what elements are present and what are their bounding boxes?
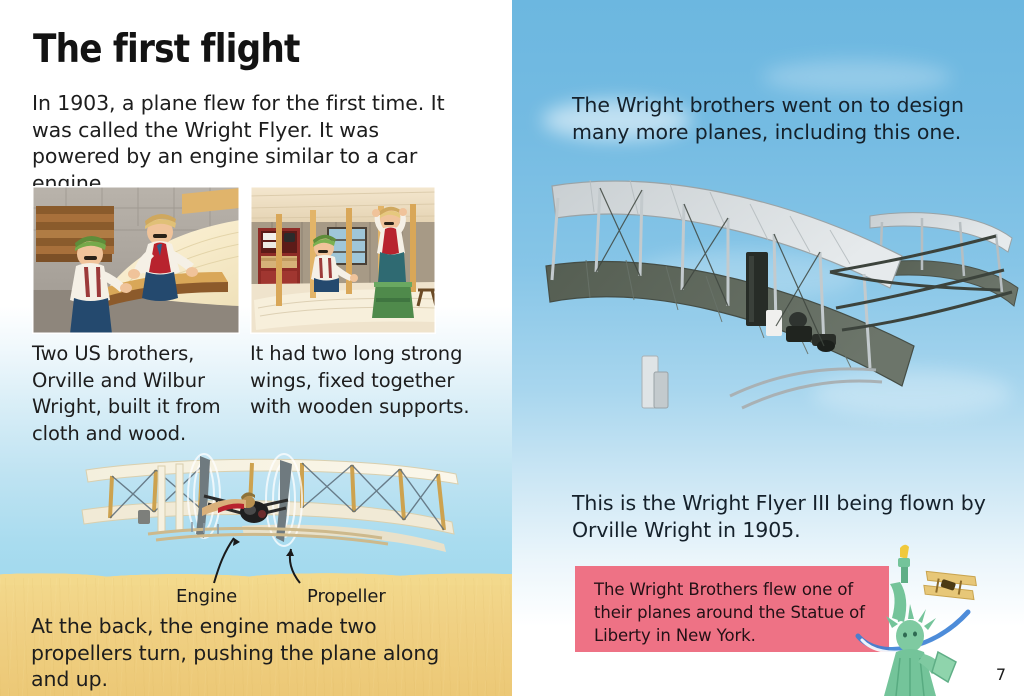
label-engine: Engine (176, 586, 237, 607)
left-page: The first flight In 1903, a plane flew f… (0, 0, 512, 696)
wright-flyer-diagram (52, 452, 482, 582)
illustration-brothers-stretching-cloth (32, 186, 240, 334)
caption-brothers: Two US brothers, Orville and Wilbur Wrig… (32, 341, 250, 447)
intro-paragraph: In 1903, a plane flew for the first time… (32, 90, 466, 196)
right-page: The Wright brothers went on to design ma… (512, 0, 1024, 696)
caption-row: Two US brothers, Orville and Wilbur Wrig… (32, 341, 482, 447)
cloud-2 (762, 60, 952, 94)
page-title: The first flight (33, 27, 300, 72)
page-number: 7 (996, 665, 1006, 684)
statue-of-liberty-with-plane (852, 540, 987, 696)
fact-box: The Wright Brothers flew one of their pl… (575, 566, 889, 652)
caption-wings: It had two long strong wings, fixed toge… (250, 341, 470, 447)
fact-box-text: The Wright Brothers flew one of their pl… (594, 578, 884, 647)
book-spread: The first flight In 1903, a plane flew f… (0, 0, 1024, 696)
right-top-paragraph: The Wright brothers went on to design ma… (572, 92, 992, 145)
wright-flyer-iii-photo (530, 160, 1024, 480)
illustration-workshop-wing-supports (250, 186, 436, 334)
right-caption-paragraph: This is the Wright Flyer III being flown… (572, 490, 992, 543)
label-propeller: Propeller (307, 586, 386, 607)
bottom-paragraph: At the back, the engine made two propell… (31, 613, 481, 693)
